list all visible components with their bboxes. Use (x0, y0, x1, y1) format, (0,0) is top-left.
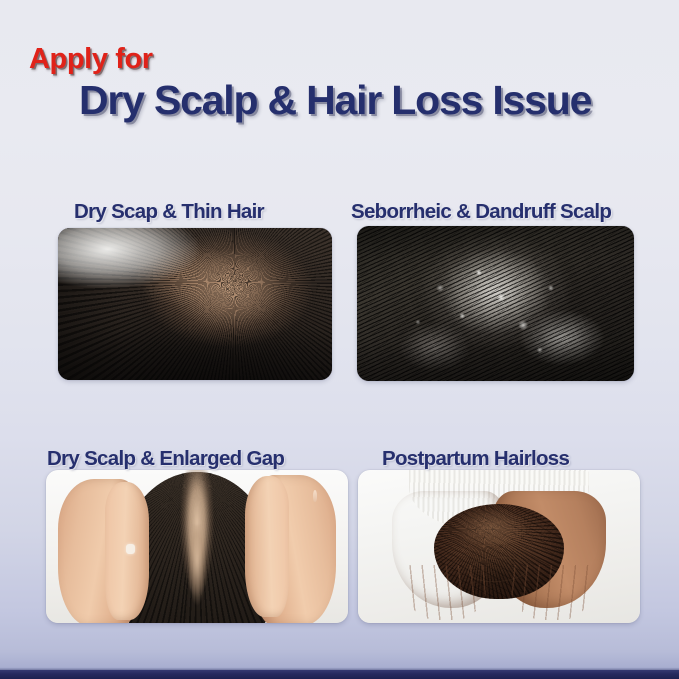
left-fingers (403, 565, 488, 620)
fingernail (313, 490, 317, 502)
photo-card-seborrheic-dandruff-scalp (357, 226, 634, 381)
panel-caption-postpartum-hairloss: Postpartum Hairloss (382, 447, 569, 471)
photo-card-postpartum-hairloss (358, 470, 640, 623)
photo-hands-holding-shed-hair (358, 470, 640, 623)
photo-thinning-scalp (58, 228, 332, 380)
footer-band (0, 670, 679, 679)
poster-root: Apply for Dry Scalp & Hair Loss Issue Dr… (0, 0, 679, 679)
hair-wisp (472, 518, 526, 545)
photo-card-dry-scalp-thin-hair (58, 228, 332, 380)
heading-apply-for: Apply for (29, 43, 153, 76)
page-title: Dry Scalp & Hair Loss Issue (79, 77, 591, 124)
right-fingers (510, 565, 595, 620)
right-hand (257, 475, 336, 623)
left-hand (58, 479, 137, 623)
panel-caption-dry-scalp-enlarged-gap: Dry Scalp & Enlarged Gap (47, 447, 284, 471)
photo-dandruff-macro (357, 226, 634, 381)
hair-parting-line-lower (186, 525, 207, 614)
hair-wisp (478, 526, 522, 545)
photo-card-dry-scalp-enlarged-gap (46, 470, 348, 623)
panel-caption-seborrheic-dandruff-scalp: Seborrheic & Dandruff Scalp (351, 200, 611, 224)
photo-widened-parting (46, 470, 348, 623)
panel-caption-dry-scalp-thin-hair: Dry Scap & Thin Hair (74, 200, 264, 224)
